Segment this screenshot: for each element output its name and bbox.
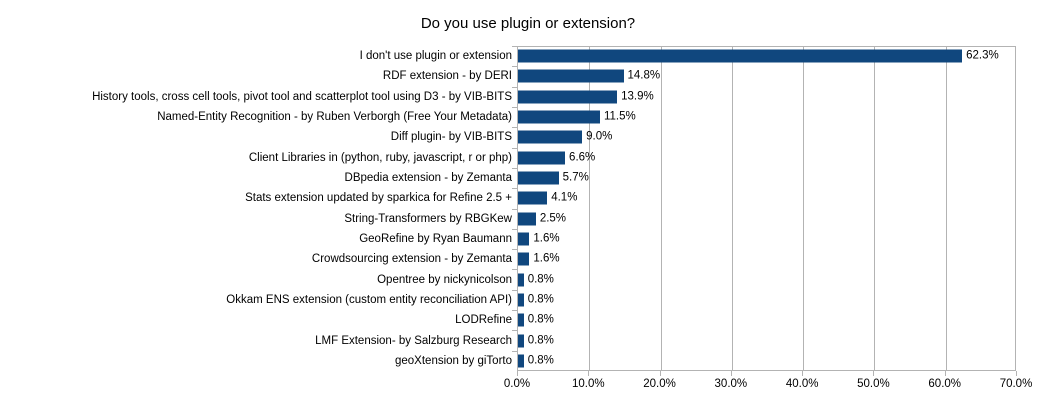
y-axis-tick (512, 310, 517, 311)
y-axis-tick (512, 229, 517, 230)
category-label: Client Libraries in (python, ruby, javas… (0, 151, 512, 165)
category-label: Crowdsourcing extension - by Zemanta (0, 252, 512, 266)
category-label: Opentree by nickynicolson (0, 273, 512, 287)
bar-row[interactable]: History tools, cross cell tools, pivot t… (0, 87, 1056, 107)
category-label: Named-Entity Recognition - by Ruben Verb… (0, 110, 512, 124)
category-label: RDF extension - by DERI (0, 69, 512, 83)
category-label: I don't use plugin or extension (0, 49, 512, 63)
x-axis-tick-label: 0.0% (504, 376, 530, 392)
y-axis-tick (512, 87, 517, 88)
category-label: DBpedia extension - by Zemanta (0, 171, 512, 185)
y-axis-tick (512, 188, 517, 189)
y-axis-tick (512, 290, 517, 291)
x-axis-tick-label: 40.0% (786, 376, 819, 392)
bar-value-label: 0.8% (528, 273, 554, 286)
x-axis-tick-label: 60.0% (928, 376, 961, 392)
x-axis-tick-label: 70.0% (1000, 376, 1033, 392)
y-axis-tick (512, 269, 517, 270)
bar[interactable] (518, 131, 582, 144)
bar-with-value: 0.8% (518, 293, 554, 306)
bar-value-label: 0.8% (528, 334, 554, 347)
bar-with-value: 9.0% (518, 131, 612, 144)
bar-with-value: 0.8% (518, 314, 554, 327)
y-axis-tick (512, 66, 517, 67)
y-axis-tick (512, 107, 517, 108)
bar-row[interactable]: GeoRefine by Ryan Baumann1.6% (0, 229, 1056, 249)
category-label: GeoRefine by Ryan Baumann (0, 232, 512, 246)
y-axis-tick (512, 148, 517, 149)
bar-value-label: 0.8% (528, 293, 554, 306)
category-label: Diff plugin- by VIB-BITS (0, 130, 512, 144)
bar-with-value: 6.6% (518, 151, 595, 164)
bar-with-value: 1.6% (518, 253, 560, 266)
bar-value-label: 1.6% (533, 232, 559, 245)
bar-row[interactable]: Opentree by nickynicolson0.8% (0, 269, 1056, 289)
bar-value-label: 14.8% (628, 70, 661, 83)
bar-with-value: 0.8% (518, 354, 554, 367)
bar-with-value: 2.5% (518, 212, 566, 225)
y-axis-tick (512, 46, 517, 47)
bar-row[interactable]: DBpedia extension - by Zemanta5.7% (0, 168, 1056, 188)
bar[interactable] (518, 172, 559, 185)
bar[interactable] (518, 273, 524, 286)
bar-with-value: 14.8% (518, 70, 660, 83)
bar-with-value: 62.3% (518, 50, 999, 63)
bar-row[interactable]: I don't use plugin or extension62.3% (0, 46, 1056, 66)
y-axis-tick (512, 127, 517, 128)
category-label: String-Transformers by RBGKew (0, 212, 512, 226)
bar-with-value: 4.1% (518, 192, 577, 205)
bar-with-value: 1.6% (518, 232, 560, 245)
y-axis-tick (512, 330, 517, 331)
bar[interactable] (518, 334, 524, 347)
bar-value-label: 9.0% (586, 131, 612, 144)
bar-row[interactable]: String-Transformers by RBGKew2.5% (0, 209, 1056, 229)
bar-with-value: 5.7% (518, 172, 589, 185)
y-axis-tick (512, 351, 517, 352)
chart-title: Do you use plugin or extension? (0, 14, 1056, 34)
bar[interactable] (518, 293, 524, 306)
bar-rows: I don't use plugin or extension62.3%RDF … (0, 46, 1056, 371)
bar-with-value: 13.9% (518, 90, 654, 103)
x-axis-labels: 0.0%10.0%20.0%30.0%40.0%50.0%60.0%70.0% (0, 376, 1056, 394)
category-label: History tools, cross cell tools, pivot t… (0, 90, 512, 104)
bar[interactable] (518, 111, 600, 124)
bar[interactable] (518, 50, 962, 63)
bar-value-label: 4.1% (551, 192, 577, 205)
y-axis-tick (512, 168, 517, 169)
bar[interactable] (518, 70, 624, 83)
bar-value-label: 0.8% (528, 354, 554, 367)
category-label: LMF Extension- by Salzburg Research (0, 334, 512, 348)
bar-row[interactable]: Stats extension updated by sparkica for … (0, 188, 1056, 208)
bar-row[interactable]: Okkam ENS extension (custom entity recon… (0, 290, 1056, 310)
bar[interactable] (518, 253, 529, 266)
bar[interactable] (518, 212, 536, 225)
bar-row[interactable]: LODRefine0.8% (0, 310, 1056, 330)
bar-value-label: 1.6% (533, 253, 559, 266)
bar-row[interactable]: Crowdsourcing extension - by Zemanta1.6% (0, 249, 1056, 269)
bar[interactable] (518, 90, 617, 103)
bar[interactable] (518, 314, 524, 327)
y-axis-tick (512, 249, 517, 250)
bar-row[interactable]: RDF extension - by DERI14.8% (0, 66, 1056, 86)
x-axis-tick-label: 30.0% (715, 376, 748, 392)
bar[interactable] (518, 232, 529, 245)
category-label: Stats extension updated by sparkica for … (0, 191, 512, 205)
bar-value-label: 13.9% (621, 90, 654, 103)
category-label: Okkam ENS extension (custom entity recon… (0, 293, 512, 307)
x-axis-tick-label: 10.0% (572, 376, 605, 392)
bar-row[interactable]: Diff plugin- by VIB-BITS9.0% (0, 127, 1056, 147)
bar-value-label: 0.8% (528, 314, 554, 327)
category-label: LODRefine (0, 313, 512, 327)
bar-value-label: 11.5% (604, 111, 636, 124)
bar-row[interactable]: geoXtension by giTorto0.8% (0, 351, 1056, 371)
bar-row[interactable]: Named-Entity Recognition - by Ruben Verb… (0, 107, 1056, 127)
bar[interactable] (518, 151, 565, 164)
bar-with-value: 11.5% (518, 111, 636, 124)
x-axis-tick-label: 20.0% (643, 376, 676, 392)
bar-value-label: 62.3% (966, 50, 999, 63)
x-axis-tick-label: 50.0% (857, 376, 890, 392)
bar-row[interactable]: Client Libraries in (python, ruby, javas… (0, 148, 1056, 168)
y-axis-tick (512, 209, 517, 210)
bar[interactable] (518, 192, 547, 205)
chart-container: Do you use plugin or extension? I don't … (0, 0, 1056, 400)
bar-value-label: 2.5% (540, 212, 566, 225)
bar-value-label: 6.6% (569, 151, 595, 164)
bar-row[interactable]: LMF Extension- by Salzburg Research0.8% (0, 330, 1056, 350)
bar-with-value: 0.8% (518, 334, 554, 347)
bar[interactable] (518, 354, 524, 367)
bar-with-value: 0.8% (518, 273, 554, 286)
bar-value-label: 5.7% (563, 172, 589, 185)
category-label: geoXtension by giTorto (0, 354, 512, 368)
